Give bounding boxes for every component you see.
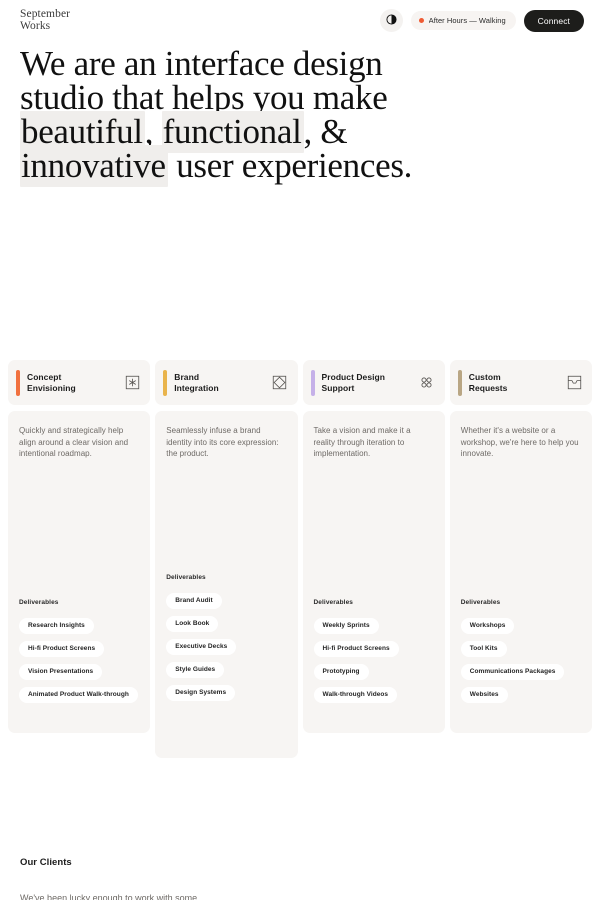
deliverable-tag[interactable]: Look Book xyxy=(166,616,218,632)
card-title-line-2: Support xyxy=(322,383,355,393)
connect-button[interactable]: Connect xyxy=(524,10,584,32)
now-playing-pill[interactable]: After Hours — Walking the xyxy=(411,11,516,30)
deliverables-label: Deliverables xyxy=(461,599,581,606)
card-header: Concept Envisioning xyxy=(8,360,150,405)
card-header: Custom Requests xyxy=(450,360,592,405)
card-title-line-1: Product Design xyxy=(322,372,386,382)
clients-section: Our Clients We've been lucky enough to w… xyxy=(0,857,600,900)
octagon-diamond-icon xyxy=(272,375,288,391)
card-title-line-1: Brand xyxy=(174,372,199,382)
deliverable-tag[interactable]: Walk-through Videos xyxy=(314,687,398,703)
deliverable-tag[interactable]: Executive Decks xyxy=(166,639,236,655)
deliverable-tag[interactable]: Weekly Sprints xyxy=(314,618,379,634)
asterisk-in-square-icon xyxy=(124,375,140,391)
logo[interactable]: September Works xyxy=(20,9,70,32)
card-description: Quickly and strategically help align aro… xyxy=(19,425,139,460)
service-card-product-design-support[interactable]: Product Design Support Take a vision and… xyxy=(303,360,445,733)
header-actions: After Hours — Walking the Connect xyxy=(380,9,584,32)
deliverable-tag[interactable]: Animated Product Walk-through xyxy=(19,687,138,703)
logo-line-2: Works xyxy=(20,21,70,33)
card-title-line-1: Concept xyxy=(27,372,61,382)
card-body: Seamlessly infuse a brand identity into … xyxy=(155,411,297,758)
spacer xyxy=(314,460,434,599)
deliverables-tag-list: Workshops Tool Kits Communications Packa… xyxy=(461,618,581,703)
deliverable-tag[interactable]: Prototyping xyxy=(314,664,369,680)
inbox-tray-icon xyxy=(566,375,582,391)
card-title-line-2: Envisioning xyxy=(27,383,76,393)
deliverable-tag[interactable]: Tool Kits xyxy=(461,641,507,657)
card-title: Product Design Support xyxy=(322,372,412,394)
deliverables-label: Deliverables xyxy=(166,574,286,581)
four-circles-grid-icon xyxy=(419,375,435,391)
card-title: Concept Envisioning xyxy=(27,372,117,394)
deliverable-tag[interactable]: Style Guides xyxy=(166,662,224,678)
card-body: Quickly and strategically help align aro… xyxy=(8,411,150,733)
theme-toggle-button[interactable] xyxy=(380,9,403,32)
accent-bar xyxy=(16,370,20,396)
headline-highlight-innovative: innovative xyxy=(20,145,168,187)
contrast-half-circle-icon xyxy=(386,13,397,28)
site-header: September Works After Hours — Walking th… xyxy=(0,0,600,41)
deliverable-tag[interactable]: Design Systems xyxy=(166,685,235,701)
card-description: Take a vision and make it a reality thro… xyxy=(314,425,434,460)
deliverables-tag-list: Research Insights Hi-fi Product Screens … xyxy=(19,618,139,703)
spacer xyxy=(166,460,286,574)
service-card-brand-integration[interactable]: Brand Integration Seamlessly infuse a br… xyxy=(155,360,297,758)
page-title: We are an interface design studio that h… xyxy=(20,47,580,183)
deliverable-tag[interactable]: Websites xyxy=(461,687,508,703)
card-description: Seamlessly infuse a brand identity into … xyxy=(166,425,286,460)
deliverable-tag[interactable]: Brand Audit xyxy=(166,593,222,609)
deliverables-tag-list: Weekly Sprints Hi-fi Product Screens Pro… xyxy=(314,618,434,703)
deliverable-tag[interactable]: Hi-fi Product Screens xyxy=(19,641,104,657)
hero-section: We are an interface design studio that h… xyxy=(0,41,600,183)
logo-line-1: September xyxy=(20,9,70,21)
card-title-line-1: Custom xyxy=(469,372,501,382)
deliverables-label: Deliverables xyxy=(314,599,434,606)
card-title: Custom Requests xyxy=(469,372,559,394)
card-title-line-2: Integration xyxy=(174,383,218,393)
card-body: Take a vision and make it a reality thro… xyxy=(303,411,445,733)
spacer xyxy=(19,460,139,599)
card-description: Whether it's a website or a workshop, we… xyxy=(461,425,581,460)
card-header: Product Design Support xyxy=(303,360,445,405)
clients-intro-text: We've been lucky enough to work with som… xyxy=(20,892,205,900)
now-playing-track-label: After Hours — Walking the xyxy=(429,16,507,25)
deliverables-label: Deliverables xyxy=(19,599,139,606)
spacer xyxy=(461,460,581,599)
accent-bar xyxy=(458,370,462,396)
now-playing-status-dot xyxy=(419,18,424,23)
card-title: Brand Integration xyxy=(174,372,264,394)
clients-heading: Our Clients xyxy=(20,857,580,868)
card-title-line-2: Requests xyxy=(469,383,508,393)
headline-line-4-rest: user experiences. xyxy=(168,146,412,185)
deliverable-tag[interactable]: Research Insights xyxy=(19,618,94,634)
accent-bar xyxy=(311,370,315,396)
deliverable-tag[interactable]: Workshops xyxy=(461,618,515,634)
deliverable-tag[interactable]: Vision Presentations xyxy=(19,664,102,680)
deliverables-tag-list: Brand Audit Look Book Executive Decks St… xyxy=(166,593,286,701)
accent-bar xyxy=(163,370,167,396)
service-card-concept-envisioning[interactable]: Concept Envisioning Quickly and strategi… xyxy=(8,360,150,733)
card-body: Whether it's a website or a workshop, we… xyxy=(450,411,592,733)
deliverable-tag[interactable]: Communications Packages xyxy=(461,664,565,680)
services-card-grid: Concept Envisioning Quickly and strategi… xyxy=(0,360,600,758)
service-card-custom-requests[interactable]: Custom Requests Whether it's a website o… xyxy=(450,360,592,733)
card-header: Brand Integration xyxy=(155,360,297,405)
deliverable-tag[interactable]: Hi-fi Product Screens xyxy=(314,641,399,657)
